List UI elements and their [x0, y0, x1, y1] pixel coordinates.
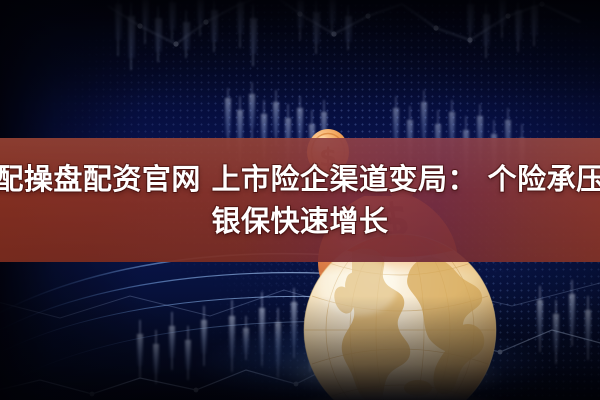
headline-line-1: 配操盘配资官网 上市险企渠道变局： 个险承压 — [0, 159, 600, 199]
poster-image: $ $ — [0, 0, 600, 400]
headline-line-2: 银保快速增长 — [211, 201, 388, 241]
headline-text-block: 配操盘配资官网 上市险企渠道变局： 个险承压 银保快速增长 — [0, 138, 600, 262]
